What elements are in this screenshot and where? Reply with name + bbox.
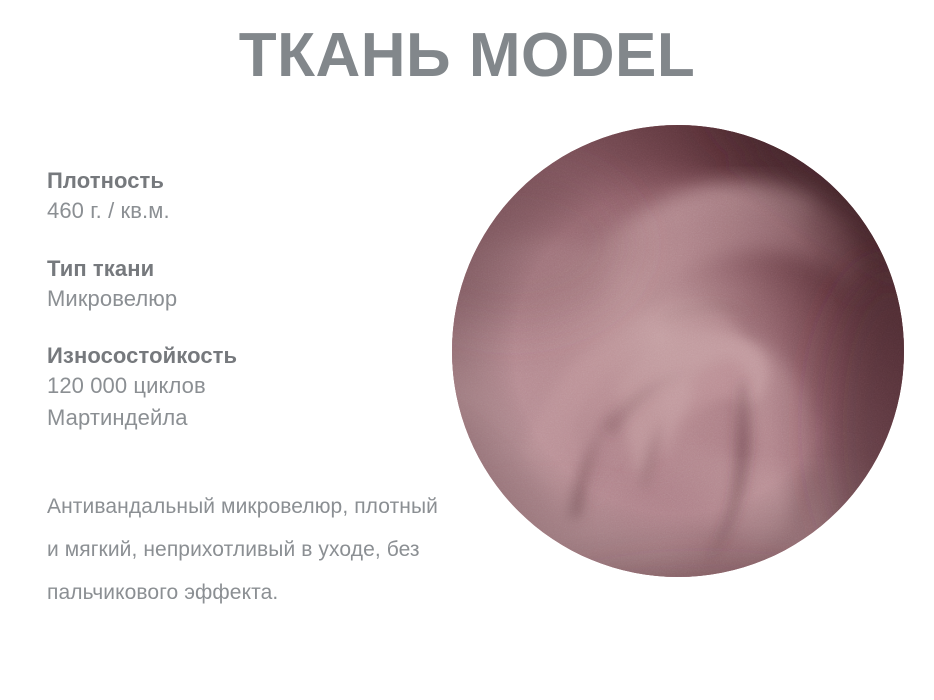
spec-item-density: Плотность 460 г. / кв.м. [47,168,447,227]
spec-label: Тип ткани [47,256,447,283]
fabric-spec-slide: ТКАНЬ MODEL Плотность 460 г. / кв.м. Тип… [0,0,934,700]
spec-item-fabric-type: Тип ткани Микровелюр [47,256,447,315]
description-text: Антивандальный микровелюр, плотный и мяг… [47,485,451,614]
page-title: ТКАНЬ MODEL [0,22,934,90]
spec-value: 460 г. / кв.м. [47,195,447,227]
fabric-illustration [452,125,904,577]
spec-item-abrasion-resistance: Износостойкость 120 000 циклов Мартиндей… [47,343,447,434]
spec-value: Микровелюр [47,283,447,315]
spec-list: Плотность 460 г. / кв.м. Тип ткани Микро… [47,168,447,463]
fabric-swatch-photo [452,125,904,577]
spec-label: Износостойкость [47,343,447,370]
spec-value: 120 000 циклов Мартиндейла [47,370,297,434]
spec-label: Плотность [47,168,447,195]
